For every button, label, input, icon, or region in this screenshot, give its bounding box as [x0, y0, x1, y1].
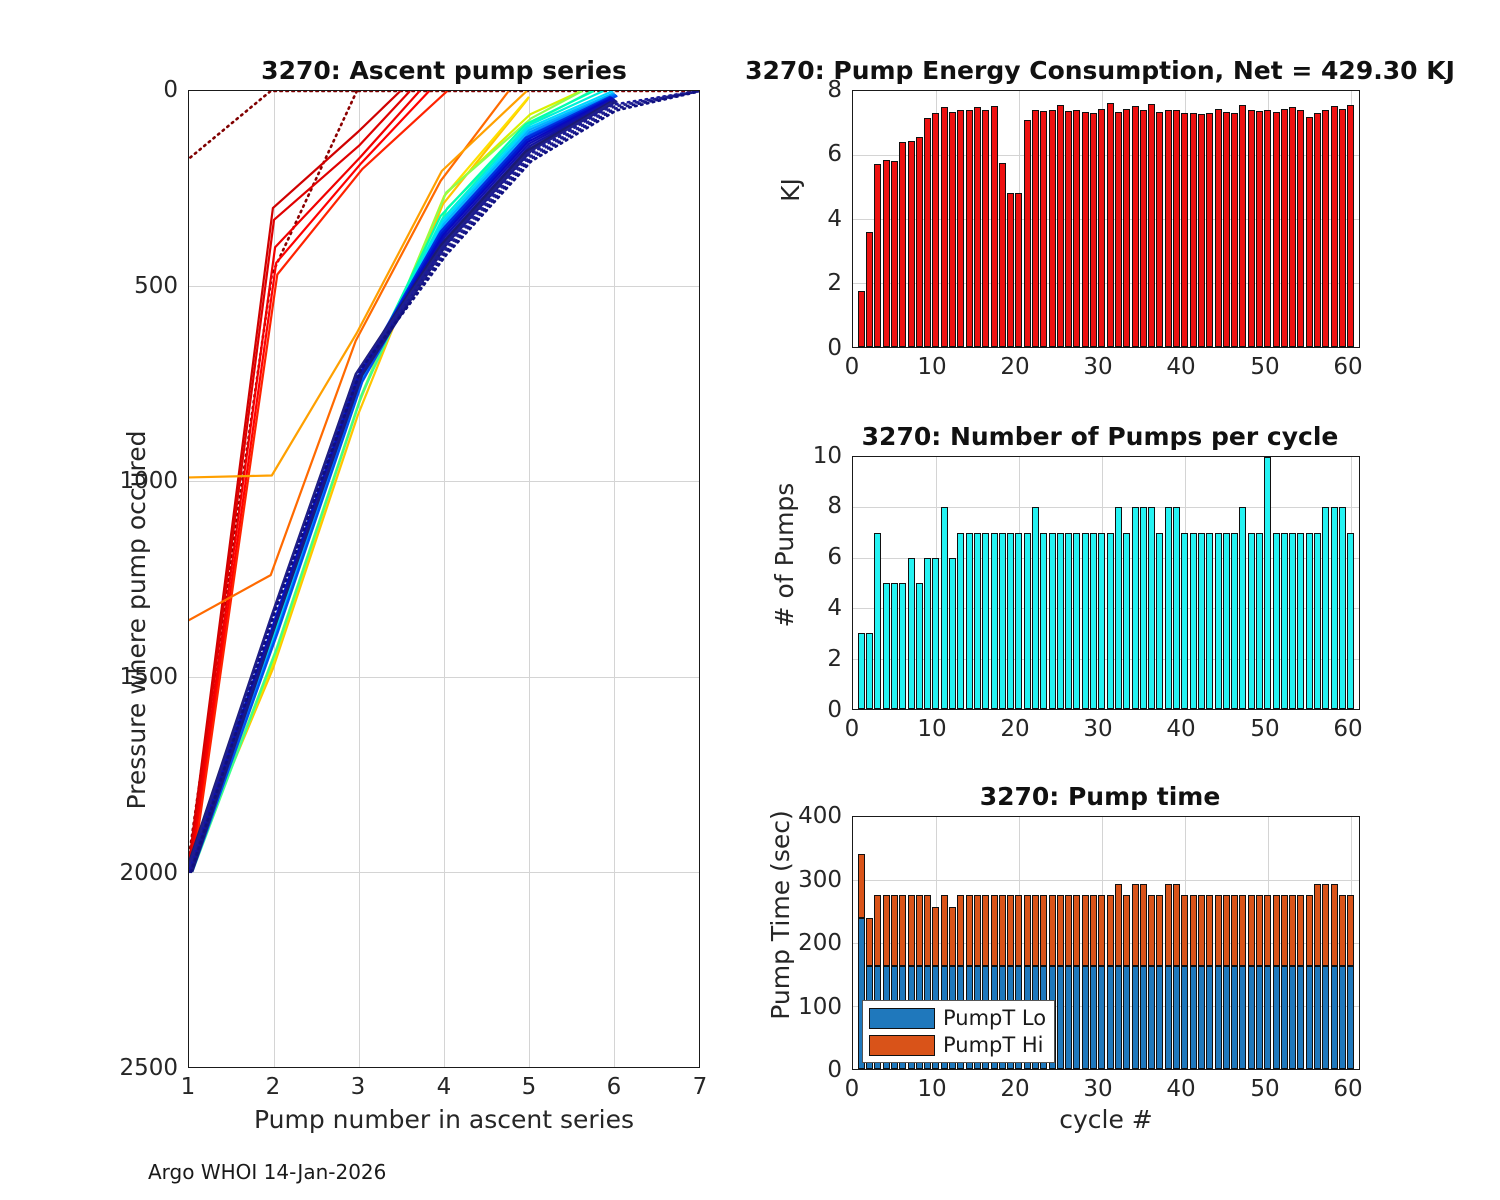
bar-56 [1314, 533, 1321, 709]
bar-pumpt-hi-26 [1065, 895, 1072, 966]
bar-pumpt-lo-45 [1223, 966, 1230, 1069]
bar-18 [999, 533, 1006, 709]
bar-52 [1281, 533, 1288, 709]
pumps-xtick-20: 20 [989, 716, 1041, 742]
bar-pumpt-hi-48 [1248, 895, 1255, 966]
bar-1 [858, 633, 865, 709]
bar-pumpt-hi-12 [949, 907, 956, 966]
bar-5 [891, 583, 898, 709]
bar-14 [966, 110, 973, 347]
bar-pumpt-hi-14 [966, 895, 973, 966]
bar-pumpt-hi-31 [1107, 895, 1114, 966]
bar-pumpt-lo-52 [1281, 966, 1288, 1069]
pumps-xtick-0: 0 [832, 716, 872, 742]
ascent-line-25 [189, 99, 614, 872]
bar-pumpt-lo-30 [1098, 966, 1105, 1069]
energy-xtick-0: 0 [832, 354, 872, 380]
bar-19 [1007, 533, 1014, 709]
bar-pumpt-hi-39 [1173, 884, 1180, 966]
bar-48 [1248, 533, 1255, 709]
bar-pumpt-lo-43 [1206, 966, 1213, 1069]
pumps-xtick-10: 10 [906, 716, 958, 742]
bar-9 [924, 558, 931, 709]
bar-pumpt-hi-19 [1007, 895, 1014, 966]
bar-42 [1198, 114, 1205, 347]
bar-17 [991, 533, 998, 709]
ascent-series-lines [189, 91, 699, 1067]
ascent-line-16 [189, 91, 603, 872]
bar-pumpt-lo-32 [1115, 966, 1122, 1069]
legend-label-2: PumpT Hi [943, 1033, 1044, 1057]
ascent-line-31 [189, 91, 698, 872]
bar-45 [1223, 533, 1230, 709]
bar-pumpt-hi-2 [866, 918, 873, 966]
bar-pumpt-lo-35 [1140, 966, 1147, 1069]
panel-ascent-pump-series: 3270: Ascent pump series 0 500 1000 1500… [0, 0, 740, 1140]
bar-27 [1073, 533, 1080, 709]
bar-58 [1331, 507, 1338, 709]
pumps-ytick-2: 2 [802, 646, 842, 672]
bar-pumpt-lo-39 [1173, 966, 1180, 1069]
bar-pumpt-hi-23 [1040, 895, 1047, 966]
legend-label-1: PumpT Lo [943, 1006, 1046, 1030]
bar-pumpt-hi-32 [1115, 884, 1122, 966]
bar-pumpt-lo-50 [1264, 966, 1271, 1069]
bar-pumpt-lo-26 [1065, 966, 1072, 1069]
bar-23 [1040, 111, 1047, 347]
footer-credit: Argo WHOI 14-Jan-2026 [148, 1160, 386, 1184]
bar-48 [1248, 110, 1255, 347]
bar-pumpt-hi-52 [1281, 895, 1288, 966]
bar-pumpt-hi-45 [1223, 895, 1230, 966]
bar-25 [1057, 533, 1064, 709]
bar-50 [1264, 110, 1271, 347]
pumps-ytick-4: 4 [802, 595, 842, 621]
ascent-line-23 [189, 97, 612, 872]
bar-pumpt-hi-49 [1256, 895, 1263, 966]
bar-17 [991, 106, 998, 347]
ascent-ytick-0: 0 [128, 77, 178, 103]
bar-pumpt-hi-40 [1181, 895, 1188, 966]
bar-pumpt-hi-27 [1073, 895, 1080, 966]
figure-canvas: 3270: Ascent pump series 0 500 1000 1500… [0, 0, 1500, 1200]
pumps-ytick-8: 8 [802, 493, 842, 519]
bar-27 [1073, 110, 1080, 347]
energy-xtick-10: 10 [906, 354, 958, 380]
bar-pumpt-hi-11 [941, 895, 948, 966]
bar-pumpt-hi-43 [1206, 895, 1213, 966]
bar-21 [1024, 120, 1031, 347]
bar-pumpt-lo-49 [1256, 966, 1263, 1069]
bar-pumpt-hi-8 [916, 895, 923, 966]
bar-pumpt-hi-41 [1190, 895, 1197, 966]
bar-2 [866, 232, 873, 347]
bar-53 [1289, 107, 1296, 347]
energy-xtick-50: 50 [1239, 354, 1291, 380]
bar-pumpt-lo-28 [1082, 966, 1089, 1069]
bar-pumpt-hi-4 [883, 895, 890, 966]
bar-pumpt-hi-35 [1140, 884, 1147, 966]
ascent-xtick-6: 6 [594, 1074, 634, 1100]
bar-pumpt-hi-33 [1123, 895, 1130, 966]
pumps-xtick-40: 40 [1155, 716, 1207, 742]
ascent-xtick-3: 3 [338, 1074, 378, 1100]
bar-pumpt-hi-22 [1032, 895, 1039, 966]
ascent-line-26 [190, 100, 615, 872]
bar-pumpt-hi-16 [982, 895, 989, 966]
time-xtick-20: 20 [989, 1076, 1041, 1102]
time-xtick-0: 0 [832, 1076, 872, 1102]
ascent-line-17 [189, 91, 613, 872]
bar-pumpt-lo-56 [1314, 966, 1321, 1069]
bar-14 [966, 533, 973, 709]
ascent-xtick-4: 4 [424, 1074, 464, 1100]
bar-pumpt-hi-1 [858, 854, 865, 918]
bar-50 [1264, 457, 1271, 709]
pumps-title: 3270: Number of Pumps per cycle [810, 422, 1390, 451]
bar-47 [1239, 105, 1246, 347]
bar-pumpt-lo-29 [1090, 966, 1097, 1069]
bar-40 [1181, 113, 1188, 347]
bar-37 [1156, 533, 1163, 709]
ascent-line-21 [192, 96, 617, 872]
bar-33 [1123, 109, 1130, 347]
bar-49 [1256, 111, 1263, 347]
bar-pumpt-lo-55 [1306, 966, 1313, 1069]
ascent-line-33 [190, 91, 699, 872]
bar-pumpt-hi-36 [1148, 895, 1155, 966]
bar-7 [908, 558, 915, 709]
bar-41 [1190, 533, 1197, 709]
bar-pumpt-hi-58 [1331, 884, 1338, 966]
gridline-horizontal [853, 880, 1359, 881]
bar-49 [1256, 533, 1263, 709]
bar-31 [1107, 533, 1114, 709]
legend-row-1: PumpT Lo [869, 1006, 1046, 1030]
bar-pumpt-lo-38 [1165, 966, 1172, 1069]
bar-5 [891, 161, 898, 347]
bar-54 [1297, 533, 1304, 709]
ascent-title: 3270: Ascent pump series [188, 56, 700, 85]
ascent-line-15 [189, 91, 594, 872]
bar-6 [899, 142, 906, 347]
bar-pumpt-lo-33 [1123, 966, 1130, 1069]
bar-36 [1148, 104, 1155, 347]
panel-pumps-per-cycle: 3270: Number of Pumps per cycle 0 2 4 6 … [740, 400, 1500, 760]
ascent-line-14 [192, 91, 592, 872]
bar-pumpt-hi-17 [991, 895, 998, 966]
bar-18 [999, 163, 1006, 347]
legend-row-2: PumpT Hi [869, 1033, 1046, 1057]
bar-43 [1206, 533, 1213, 709]
bar-pumpt-hi-6 [899, 895, 906, 966]
energy-title: 3270: Pump Energy Consumption, Net = 429… [740, 56, 1460, 85]
ascent-yaxis-label: Pressure where pump occured [122, 370, 151, 870]
pumps-xtick-50: 50 [1239, 716, 1291, 742]
bar-60 [1347, 105, 1354, 347]
ascent-line-27 [191, 100, 616, 871]
energy-plot-area [852, 90, 1360, 348]
bar-20 [1015, 533, 1022, 709]
time-xaxis-label: cycle # [852, 1105, 1360, 1134]
bar-54 [1297, 110, 1304, 347]
bar-30 [1098, 109, 1105, 347]
bar-33 [1123, 533, 1130, 709]
bar-10 [932, 558, 939, 709]
bar-30 [1098, 533, 1105, 709]
bar-pumpt-lo-42 [1198, 966, 1205, 1069]
bar-pumpt-lo-51 [1273, 966, 1280, 1069]
ascent-line-34 [191, 91, 699, 872]
bar-pumpt-hi-21 [1024, 895, 1031, 966]
ascent-plot-area [188, 90, 700, 1068]
bar-1 [858, 291, 865, 347]
bar-60 [1347, 533, 1354, 709]
bar-34 [1132, 106, 1139, 347]
bar-38 [1165, 507, 1172, 709]
bar-57 [1322, 110, 1329, 347]
bar-8 [916, 583, 923, 709]
ascent-line-28 [192, 101, 617, 872]
bar-pumpt-hi-55 [1306, 895, 1313, 966]
bar-pumpt-lo-36 [1148, 966, 1155, 1069]
ascent-line-24 [189, 98, 613, 872]
energy-ytick-2: 2 [802, 270, 842, 296]
bar-44 [1215, 533, 1222, 709]
time-title: 3270: Pump time [850, 782, 1350, 811]
bar-9 [924, 118, 931, 347]
bar-24 [1049, 110, 1056, 347]
bar-55 [1306, 533, 1313, 709]
bar-pumpt-hi-15 [974, 895, 981, 966]
bar-59 [1339, 507, 1346, 709]
bar-55 [1306, 117, 1313, 347]
bar-pumpt-hi-50 [1264, 895, 1271, 966]
panel-pump-energy: 3270: Pump Energy Consumption, Net = 429… [740, 0, 1500, 400]
bar-22 [1032, 110, 1039, 347]
bar-pumpt-hi-24 [1049, 895, 1056, 966]
bar-pumpt-lo-46 [1231, 966, 1238, 1069]
bar-pumpt-hi-18 [999, 895, 1006, 966]
bar-pumpt-hi-59 [1339, 895, 1346, 966]
bar-10 [932, 113, 939, 347]
bar-pumpt-hi-42 [1198, 895, 1205, 966]
bar-4 [883, 583, 890, 709]
bar-pumpt-hi-20 [1015, 895, 1022, 966]
bar-57 [1322, 507, 1329, 709]
bar-pumpt-hi-57 [1322, 884, 1329, 966]
bar-19 [1007, 193, 1014, 347]
bar-pumpt-lo-44 [1215, 966, 1222, 1069]
bar-6 [899, 583, 906, 709]
bar-53 [1289, 533, 1296, 709]
pumps-plot-area [852, 456, 1360, 710]
bar-pumpt-hi-3 [874, 895, 881, 966]
bar-41 [1190, 113, 1197, 347]
pumps-xtick-30: 30 [1072, 716, 1124, 742]
bar-13 [957, 110, 964, 347]
bar-34 [1132, 507, 1139, 709]
energy-ytick-6: 6 [802, 141, 842, 167]
bar-2 [866, 633, 873, 709]
bar-pumpt-hi-38 [1165, 884, 1172, 966]
time-xtick-60: 60 [1322, 1076, 1374, 1102]
bar-46 [1231, 533, 1238, 709]
bar-pumpt-hi-10 [932, 907, 939, 966]
energy-yaxis-label: KJ [776, 130, 805, 250]
bar-32 [1115, 112, 1122, 347]
bar-42 [1198, 533, 1205, 709]
legend-swatch-2 [869, 1035, 935, 1056]
gridline-horizontal [853, 507, 1359, 508]
time-yaxis-label: Pump Time (sec) [766, 770, 795, 1060]
bar-37 [1156, 112, 1163, 347]
bar-pumpt-lo-48 [1248, 966, 1255, 1069]
bar-pumpt-hi-44 [1215, 895, 1222, 966]
pumps-yaxis-label: # of Pumps [770, 440, 799, 670]
pumps-xtick-60: 60 [1322, 716, 1374, 742]
bar-29 [1090, 533, 1097, 709]
bar-24 [1049, 533, 1056, 709]
bar-56 [1314, 113, 1321, 347]
bar-16 [982, 533, 989, 709]
energy-xtick-40: 40 [1155, 354, 1207, 380]
time-xtick-10: 10 [906, 1076, 958, 1102]
bar-39 [1173, 110, 1180, 347]
bar-4 [883, 160, 890, 347]
bar-pumpt-lo-54 [1297, 966, 1304, 1069]
bar-11 [941, 507, 948, 709]
bar-pumpt-hi-54 [1297, 895, 1304, 966]
ascent-line-13 [191, 91, 582, 872]
time-xtick-40: 40 [1155, 1076, 1207, 1102]
ascent-line-30 [189, 103, 612, 872]
bar-11 [941, 107, 948, 347]
bar-pumpt-hi-60 [1347, 895, 1354, 966]
bar-40 [1181, 533, 1188, 709]
bar-pumpt-lo-34 [1132, 966, 1139, 1069]
bar-3 [874, 533, 881, 709]
bar-45 [1223, 112, 1230, 347]
bar-pumpt-hi-46 [1231, 895, 1238, 966]
bar-26 [1065, 533, 1072, 709]
bar-20 [1015, 193, 1022, 347]
bar-pumpt-lo-31 [1107, 966, 1114, 1069]
bar-pumpt-hi-7 [908, 895, 915, 966]
ascent-xtick-1: 1 [168, 1074, 208, 1100]
bar-pumpt-lo-53 [1289, 966, 1296, 1069]
ascent-line-3 [189, 91, 400, 872]
bar-pumpt-hi-51 [1273, 895, 1280, 966]
bar-51 [1273, 533, 1280, 709]
ascent-line-19 [190, 94, 615, 872]
ascent-line-9 [189, 91, 527, 478]
ascent-line-4 [189, 91, 410, 872]
bar-pumpt-hi-25 [1057, 895, 1064, 966]
bar-51 [1273, 112, 1280, 347]
ascent-line-32 [189, 91, 699, 872]
bar-28 [1082, 112, 1089, 347]
bar-39 [1173, 507, 1180, 709]
bar-pumpt-hi-13 [957, 895, 964, 966]
legend-swatch-1 [869, 1008, 935, 1029]
energy-xtick-30: 30 [1072, 354, 1124, 380]
bar-pumpt-lo-60 [1347, 966, 1354, 1069]
ascent-line-18 [189, 93, 614, 872]
bar-12 [949, 558, 956, 709]
bar-52 [1281, 109, 1288, 347]
ascent-xaxis-label: Pump number in ascent series [188, 1105, 700, 1134]
bar-35 [1140, 507, 1147, 709]
bar-58 [1331, 106, 1338, 347]
ascent-line-22 [189, 97, 611, 872]
bar-pumpt-hi-53 [1289, 895, 1296, 966]
bar-35 [1140, 110, 1147, 347]
pumps-ytick-6: 6 [802, 544, 842, 570]
bar-pumpt-hi-28 [1082, 895, 1089, 966]
ascent-xtick-2: 2 [253, 1074, 293, 1100]
bar-15 [974, 107, 981, 347]
bar-pumpt-hi-29 [1090, 895, 1097, 966]
ascent-line-29 [189, 102, 611, 872]
bar-pumpt-hi-56 [1314, 884, 1321, 966]
bar-26 [1065, 111, 1072, 347]
bar-pumpt-hi-34 [1132, 884, 1139, 966]
bar-pumpt-lo-25 [1057, 966, 1064, 1069]
bar-pumpt-lo-58 [1331, 966, 1338, 1069]
bar-38 [1165, 110, 1172, 347]
bar-pumpt-hi-37 [1156, 895, 1163, 966]
bar-28 [1082, 533, 1089, 709]
bar-pumpt-lo-47 [1239, 966, 1246, 1069]
bar-16 [982, 110, 989, 347]
bar-pumpt-hi-9 [924, 895, 931, 966]
energy-xtick-60: 60 [1322, 354, 1374, 380]
bar-12 [949, 112, 956, 347]
bar-pumpt-hi-5 [891, 895, 898, 966]
ascent-line-20 [191, 95, 616, 872]
bar-pumpt-lo-27 [1073, 966, 1080, 1069]
bar-32 [1115, 507, 1122, 709]
bar-25 [1057, 105, 1064, 347]
bar-23 [1040, 533, 1047, 709]
bar-3 [874, 164, 881, 347]
bar-22 [1032, 507, 1039, 709]
energy-ytick-8: 8 [802, 77, 842, 103]
bar-8 [916, 137, 923, 347]
bar-21 [1024, 533, 1031, 709]
ascent-line-1 [189, 91, 696, 161]
pump-time-legend: PumpT LoPumpT Hi [862, 1000, 1055, 1063]
bar-31 [1107, 103, 1114, 347]
bar-36 [1148, 507, 1155, 709]
energy-xtick-20: 20 [989, 354, 1041, 380]
bar-59 [1339, 109, 1346, 347]
bar-pumpt-hi-30 [1098, 895, 1105, 966]
bar-pumpt-hi-47 [1239, 895, 1246, 966]
bar-44 [1215, 109, 1222, 347]
bar-pumpt-lo-41 [1190, 966, 1197, 1069]
bar-15 [974, 533, 981, 709]
bar-pumpt-lo-40 [1181, 966, 1188, 1069]
energy-ytick-4: 4 [802, 206, 842, 232]
bar-43 [1206, 113, 1213, 347]
bar-pumpt-lo-37 [1156, 966, 1163, 1069]
ascent-ytick-500: 500 [128, 273, 178, 299]
bar-pumpt-lo-57 [1322, 966, 1329, 1069]
bar-29 [1090, 113, 1097, 347]
bar-46 [1231, 113, 1238, 347]
